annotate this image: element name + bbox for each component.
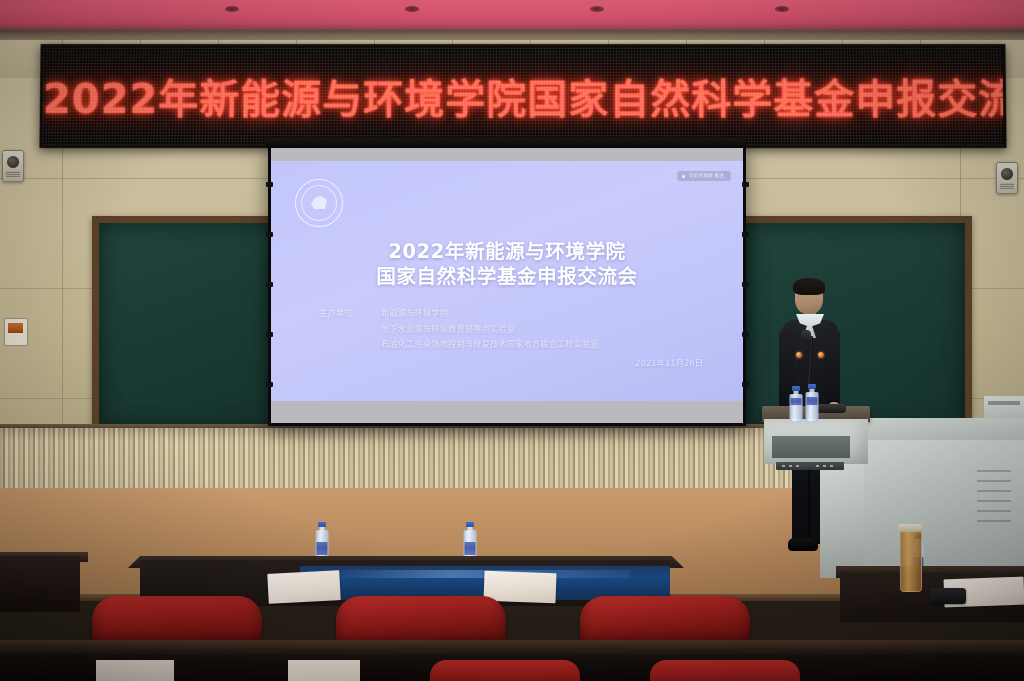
screen-hook-icon xyxy=(266,332,273,337)
screen-hook-icon xyxy=(742,232,749,237)
presenter-right-arm xyxy=(825,328,840,408)
lectern-podium xyxy=(762,406,870,578)
red-chair xyxy=(430,660,580,681)
document-sheet xyxy=(483,571,556,603)
mobile-phone xyxy=(930,588,966,604)
slide-subtitle-block: 主办单位新能源与环境学院 地下水资源与环境教育部重点实验室 石油化工污染场地控制… xyxy=(319,306,725,371)
powerpoint-toolbar-chip[interactable]: 幻灯片放映 批注 xyxy=(677,171,731,181)
document-sheet xyxy=(288,660,360,681)
tea-thermos-cup xyxy=(900,530,922,592)
led-scrolling-banner: 2022年新能源与环境学院国家自然科学基金申报交流会 xyxy=(39,44,1006,148)
screen-hook-icon xyxy=(742,182,749,187)
bottle-cap-icon xyxy=(318,522,326,527)
presenter-badge-icon xyxy=(796,352,802,358)
bottle-cap-icon xyxy=(466,522,474,527)
screen-hook-icon xyxy=(266,182,273,187)
conference-hall-photo: 2022年新能源与环境学院国家自然科学基金申报交流会 幻灯片放映 批注 2022… xyxy=(0,0,1024,681)
left-table xyxy=(0,556,80,612)
bottle-label xyxy=(317,542,328,555)
document-sheet xyxy=(267,570,340,604)
ceiling-light-icon xyxy=(775,6,789,12)
presentation-slide: 幻灯片放映 批注 2022年新能源与环境学院 国家自然科学基金申报交流会 主办单… xyxy=(271,161,743,401)
ceiling-light-icon xyxy=(405,6,419,12)
ceiling-light-icon xyxy=(225,6,239,12)
slide-title-line-1: 2022年新能源与环境学院 xyxy=(271,239,743,264)
wall-speaker-right xyxy=(996,162,1018,194)
chip-dot-icon xyxy=(682,175,685,178)
screen-hook-icon xyxy=(266,282,273,287)
bottle-label xyxy=(807,397,818,405)
screen-hook-icon xyxy=(742,382,749,387)
screen-hook-icon xyxy=(742,282,749,287)
slide-host-org-2: 地下水资源与环境教育部重点实验室 xyxy=(319,322,725,338)
wall-speaker-left xyxy=(2,150,24,182)
bottle-neck xyxy=(794,391,799,395)
document-sheet xyxy=(96,660,174,681)
slide-title-line-2: 国家自然科学基金申报交流会 xyxy=(271,264,743,289)
presenter-hair xyxy=(793,278,825,295)
presenter-badge-icon xyxy=(818,352,824,358)
screen-hook-icon xyxy=(266,382,273,387)
wall-control-panel[interactable] xyxy=(4,318,28,346)
slide-host-line: 主办单位新能源与环境学院 xyxy=(319,306,725,322)
red-chair xyxy=(650,660,800,681)
bottle-label xyxy=(791,398,802,406)
microphone-head-icon xyxy=(801,330,811,343)
slide-date: 2021年11月26日 xyxy=(319,356,725,372)
podium-leg xyxy=(820,464,864,578)
slide-host-label: 主办单位 xyxy=(319,306,381,322)
speaker-grille-icon xyxy=(6,171,20,177)
bottle-neck xyxy=(468,527,473,531)
panel-indicator-icon xyxy=(8,323,23,333)
blackboard-right xyxy=(738,216,972,436)
table-glass-reflection xyxy=(330,570,630,578)
ceiling-light-icon xyxy=(590,6,604,12)
speaker-grille-icon xyxy=(1000,183,1014,189)
podium-control-strip[interactable] xyxy=(776,462,844,470)
speaker-cone-icon xyxy=(1001,168,1013,180)
podium-shelf xyxy=(772,436,850,458)
screen-surface: 幻灯片放映 批注 2022年新能源与环境学院 国家自然科学基金申报交流会 主办单… xyxy=(271,147,743,423)
led-banner-text: 2022年新能源与环境学院国家自然科学基金申报交流会 xyxy=(43,67,1004,125)
printer-slot-icon xyxy=(988,401,1020,405)
microphone-base xyxy=(816,404,846,413)
bottle-neck xyxy=(320,527,325,531)
ppt-chip-label: 幻灯片放映 批注 xyxy=(689,173,724,179)
university-seal-emblem-icon xyxy=(295,179,343,227)
tea-cup-lid-icon xyxy=(898,524,922,532)
screen-hook-icon xyxy=(266,232,273,237)
bottle-neck xyxy=(810,389,815,393)
slide-host-org-1: 新能源与环境学院 xyxy=(381,308,448,318)
speaker-cone-icon xyxy=(7,156,19,168)
blackboard-left xyxy=(92,216,292,436)
bottle-cap-icon xyxy=(792,386,800,391)
bottle-label xyxy=(465,542,476,555)
projection-screen: 幻灯片放映 批注 2022年新能源与环境学院 国家自然科学基金申报交流会 主办单… xyxy=(268,144,746,426)
slide-host-org-3: 石油化工污染场地控制与修复技术国家地方联合工程实验室 xyxy=(319,337,725,353)
screen-hook-icon xyxy=(742,332,749,337)
projector-screen-housing xyxy=(266,138,746,148)
bottle-cap-icon xyxy=(808,384,816,389)
slide-title: 2022年新能源与环境学院 国家自然科学基金申报交流会 xyxy=(271,239,743,289)
